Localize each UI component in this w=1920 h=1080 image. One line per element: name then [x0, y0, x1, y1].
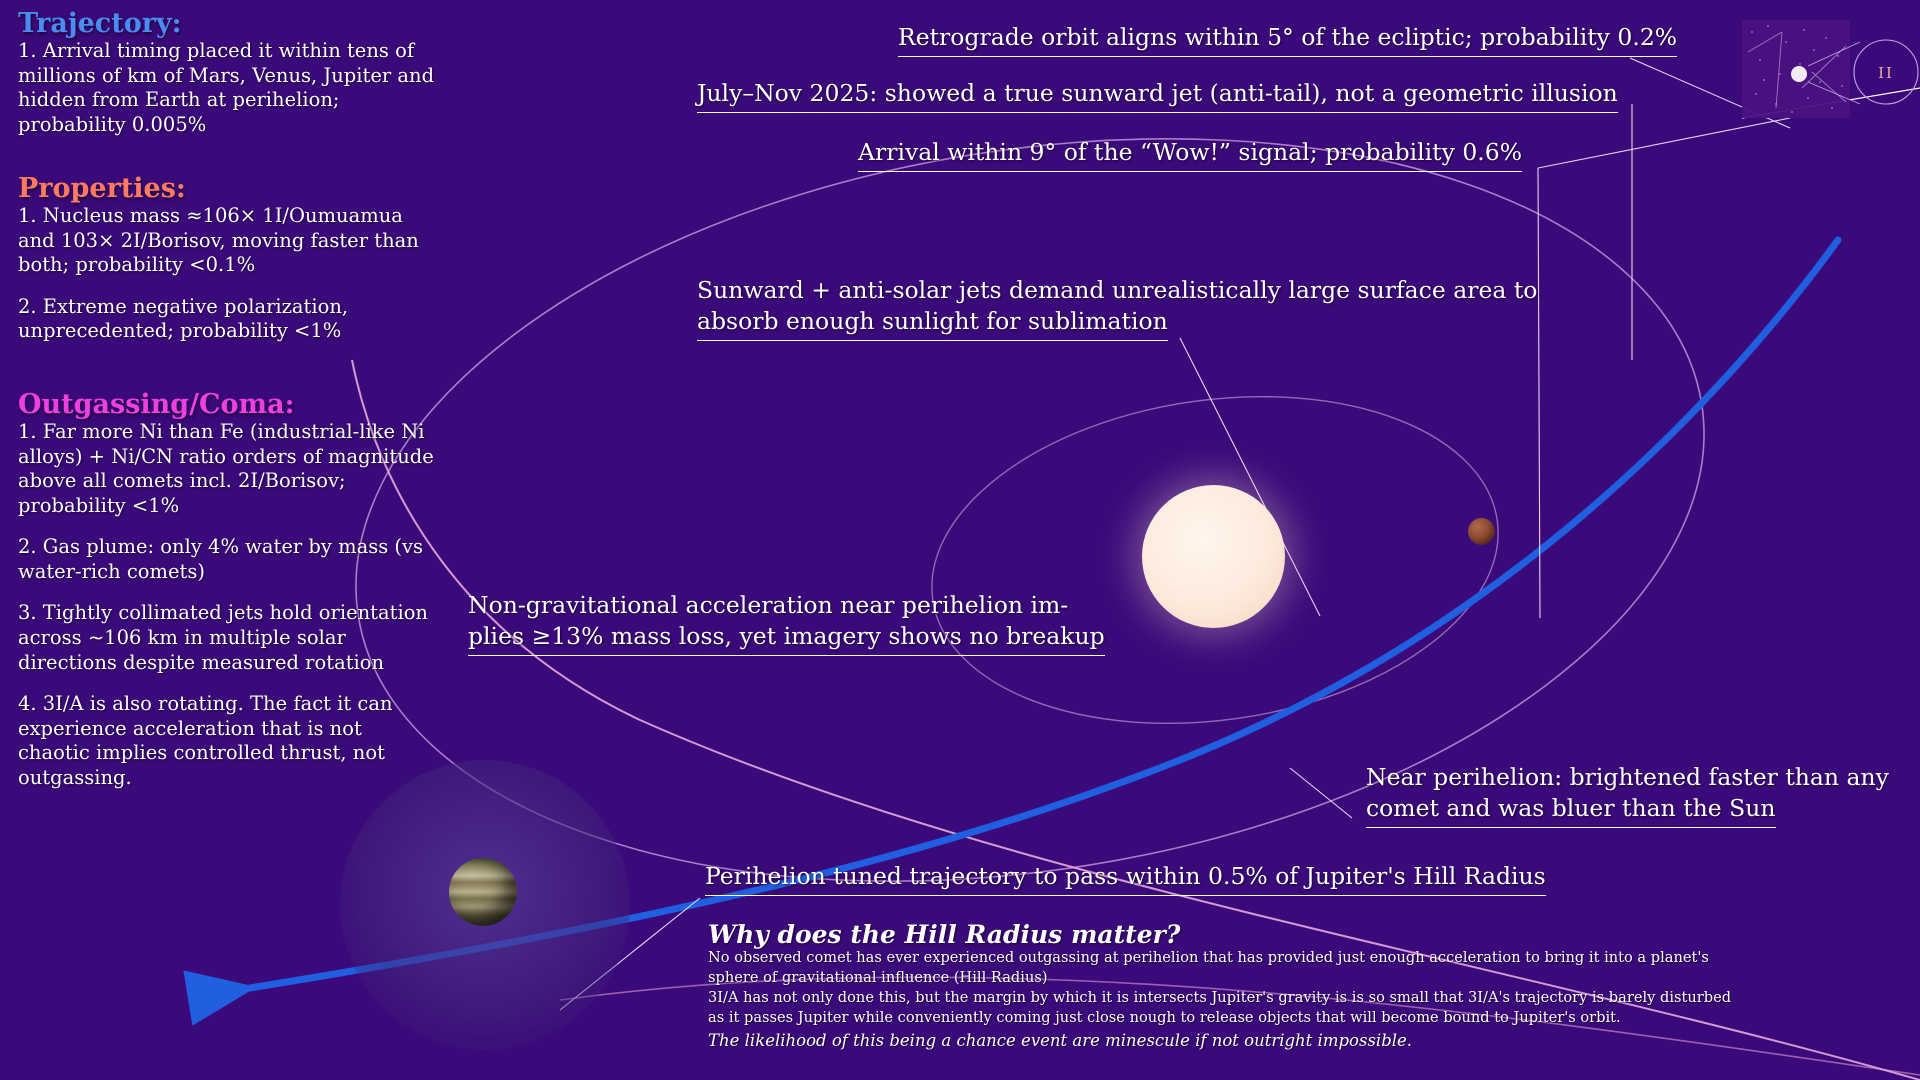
properties-item-1: 1. Nucleus mass ≈106× 1I/Oumuamua and 10… [18, 204, 436, 278]
leader-line-wow [1538, 118, 1790, 168]
callout-brightening-line-2: comet and was bluer than the Sun [1366, 793, 1776, 828]
hill-paragraph-2: sphere of gravitational influence (Hill … [708, 968, 1888, 988]
section-heading-trajectory: Trajectory: [18, 10, 448, 38]
callout-retrograde-text: Retrograde orbit aligns within 5° of the… [898, 22, 1677, 57]
jupiter-planet [449, 858, 517, 926]
callout-wow-signal-text: Arrival within 9° of the “Wow!” signal; … [858, 137, 1522, 172]
callout-brightening-line-1: Near perihelion: brightened faster than … [1366, 762, 1889, 793]
sun-sphere [1142, 485, 1285, 628]
hill-paragraph-1: No observed comet has ever experienced o… [708, 948, 1888, 968]
telescope-inset: II [1742, 12, 1920, 120]
hill-radius-explanation: No observed comet has ever experienced o… [708, 948, 1888, 1053]
callout-hill-radius-text: Perihelion tuned trajectory to pass with… [705, 861, 1546, 896]
inset-object-marker: II [1878, 64, 1894, 82]
outgassing-item-3: 3. Tightly collimated jets hold orientat… [18, 601, 436, 675]
hill-closing-statement: The likelihood of this being a chance ev… [708, 1030, 1888, 1052]
leader-line-brightening [1290, 768, 1352, 818]
outgassing-item-2: 2. Gas plume: only 4% water by mass (vs … [18, 535, 436, 584]
callout-jets-line-2: absorb enough sunlight for sublimation [697, 306, 1168, 341]
callout-hill-radius: Perihelion tuned trajectory to pass with… [705, 861, 1546, 896]
mars-planet [1468, 518, 1495, 545]
callout-jets-line-1: Sunward + anti-solar jets demand unreali… [697, 275, 1537, 306]
hill-radius-question: Why does the Hill Radius matter? [708, 920, 1180, 949]
callout-anti-tail-text: July–Nov 2025: showed a true sunward jet… [697, 78, 1618, 113]
hill-paragraph-4: as it passes Jupiter while conveniently … [708, 1008, 1888, 1028]
section-heading-properties: Properties: [18, 175, 448, 203]
outgassing-item-1: 1. Far more Ni than Fe (industrial-like … [18, 420, 436, 518]
trajectory-item-1: 1. Arrival timing placed it within tens … [18, 39, 436, 137]
callout-perihelion-brightening: Near perihelion: brightened faster than … [1366, 762, 1889, 828]
callout-jets-surface-area: Sunward + anti-solar jets demand unreali… [697, 275, 1537, 341]
spacer [18, 155, 448, 175]
section-heading-outgassing: Outgassing/Coma: [18, 391, 448, 419]
callout-nongravitational-acceleration: Non-gravitational acceleration near peri… [468, 590, 1105, 656]
outgassing-item-4: 4. 3I/A is also rotating. The fact it ca… [18, 692, 436, 790]
callout-retrograde-orbit: Retrograde orbit aligns within 5° of the… [898, 22, 1677, 57]
hill-paragraph-3: 3I/A has not only done this, but the mar… [708, 988, 1888, 1008]
callout-nongrav-line-1: Non-gravitational acceleration near peri… [468, 590, 1105, 621]
callout-anti-tail: July–Nov 2025: showed a true sunward jet… [697, 78, 1618, 113]
properties-item-2: 2. Extreme negative polarization, unprec… [18, 295, 436, 344]
callout-nongrav-line-2: plies ≥13% mass loss, yet imagery shows … [468, 621, 1105, 656]
findings-sidebar: Trajectory: 1. Arrival timing placed it … [18, 10, 448, 790]
spacer [18, 361, 448, 391]
infographic-canvas: II Trajectory: 1. Arrival timing placed … [0, 0, 1920, 1080]
callout-wow-signal: Arrival within 9° of the “Wow!” signal; … [858, 137, 1522, 172]
inset-bright-object [1791, 66, 1807, 82]
